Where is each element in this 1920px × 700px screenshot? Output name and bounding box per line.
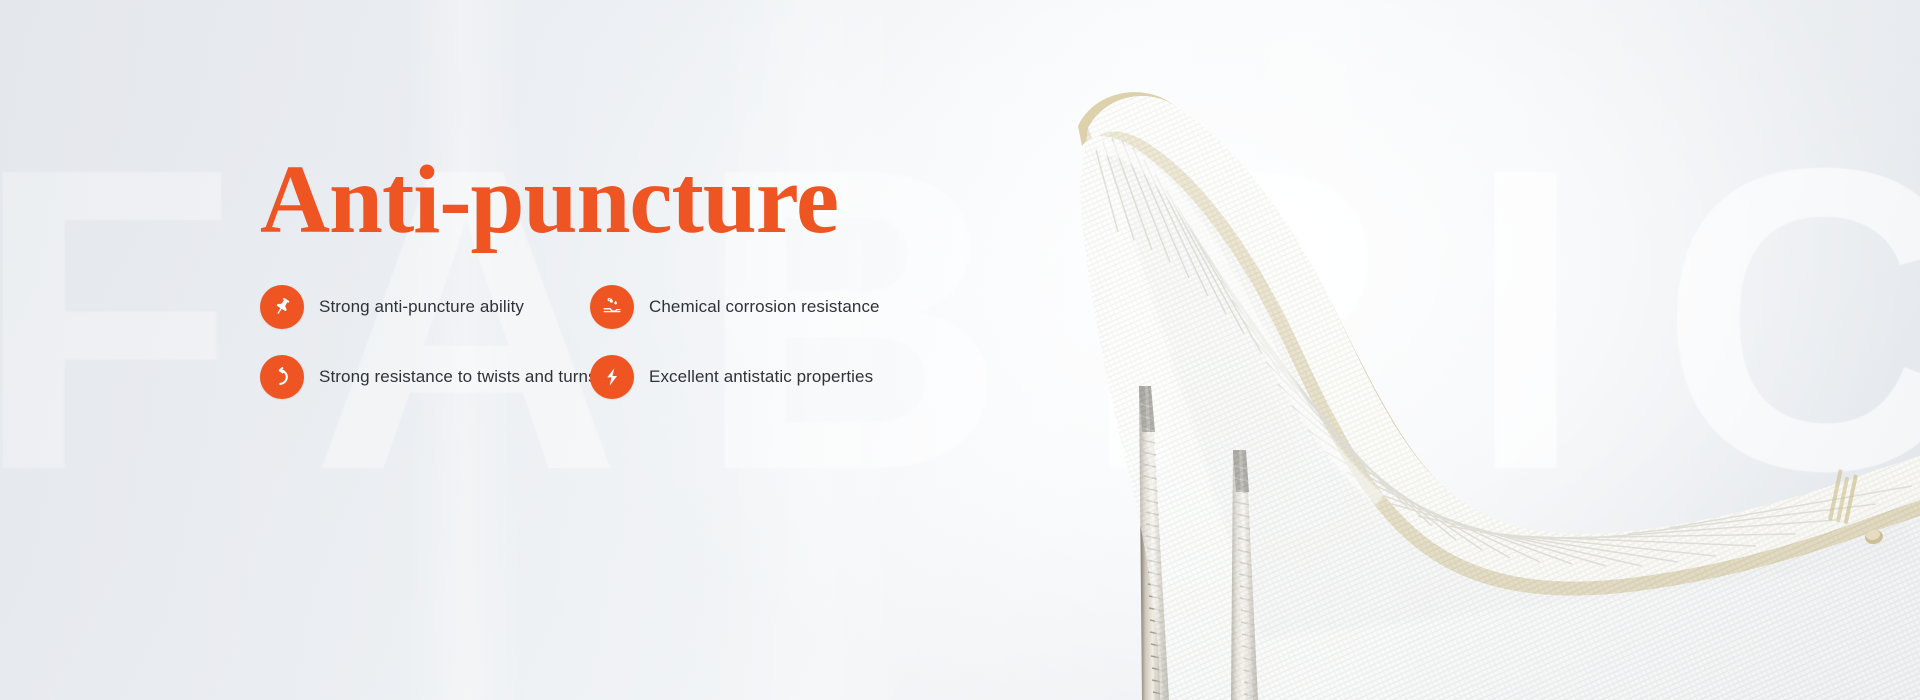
watermark-letter-i: I <box>1466 105 1589 535</box>
corrosion-droplet-icon <box>590 285 634 329</box>
threaded-nail-left <box>1139 386 1169 700</box>
light-band-3 <box>1180 0 1440 700</box>
threaded-nail-right <box>1231 450 1258 700</box>
feature-item-twist-resistance[interactable]: Strong resistance to twists and turns <box>260 355 590 399</box>
feature-item-anti-puncture[interactable]: Strong anti-puncture ability <box>260 285 590 329</box>
anti-puncture-product-banner: F A B R I C <box>0 0 1920 700</box>
woven-texture <box>1060 80 1920 700</box>
feature-label: Chemical corrosion resistance <box>649 297 880 317</box>
banner-content: Anti-puncture Strong anti-puncture abili… <box>260 150 980 399</box>
watermark-letter-f: F <box>0 105 241 535</box>
insole-hole <box>1864 529 1884 546</box>
feature-label: Excellent antistatic properties <box>649 367 873 387</box>
feature-label: Strong resistance to twists and turns <box>319 367 597 387</box>
insole-shadow <box>1105 142 1920 640</box>
pushpin-icon <box>260 285 304 329</box>
rotate-twist-icon <box>260 355 304 399</box>
insole-body <box>1060 80 1920 700</box>
feature-list: Strong anti-puncture ability Chemical co… <box>260 285 980 399</box>
insole-ribs <box>1096 138 1912 566</box>
insole-printed-code <box>1828 469 1858 524</box>
feature-item-antistatic[interactable]: Excellent antistatic properties <box>590 355 920 399</box>
watermark-letter-r: R <box>1081 105 1396 535</box>
watermark-letter-c: C <box>1659 105 1920 535</box>
feature-label: Strong anti-puncture ability <box>319 297 524 317</box>
page-title: Anti-puncture <box>260 150 980 251</box>
lightning-bolt-icon <box>590 355 634 399</box>
feature-item-chemical-corrosion[interactable]: Chemical corrosion resistance <box>590 285 920 329</box>
